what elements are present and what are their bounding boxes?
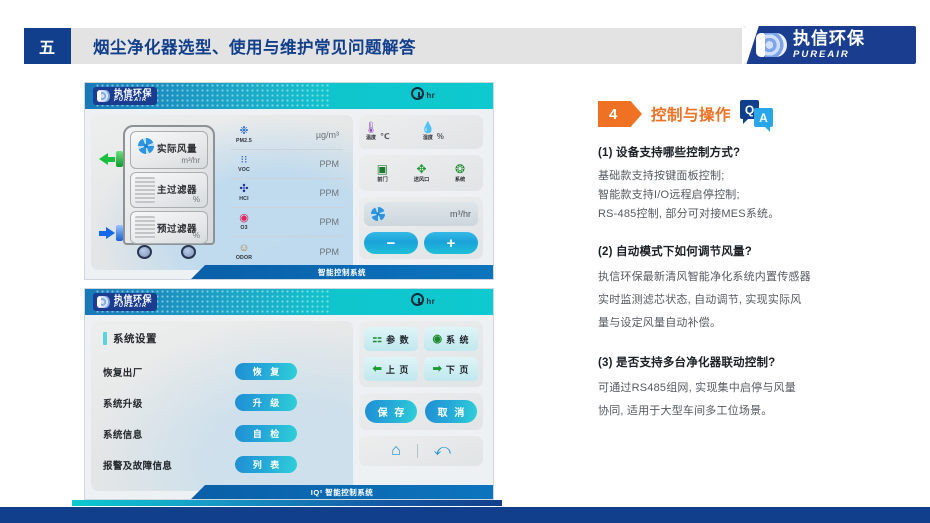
back-arrow-icon[interactable]: ⤺ [434,443,451,459]
voc-icon: ⁝⁝ VOC [231,155,257,173]
air-inlet-arrow [99,225,123,241]
runtime-unit: hr [426,91,435,100]
qa-bubbles-icon: Q A [740,100,774,128]
page-title: 烟尘净化器选型、使用与维护常见问题解答 [71,28,742,64]
grill-icon [135,216,155,239]
hmi-brand-cn: 执信环保 [114,89,152,97]
brand-name-en: PUREAIR [793,50,865,60]
sensor-name: VOC [238,167,250,173]
humidity-drop-icon: 💧 湿度 [421,123,435,141]
machine-section-main-filter[interactable]: 主过滤器 % [130,172,208,208]
faq-answer-line: 智能款支持I/O远程启停控制; [598,186,918,205]
settings-row-upgrade: 系统升级 升 级 [103,387,341,418]
home-back-card: ⌂ ⤺ [359,436,483,466]
status-label: 前门 [377,176,387,183]
hmi-footer-label: 智能控制系统 [191,265,493,279]
next-page-button[interactable]: ➡ 下 页 [424,357,478,381]
fan-icon [138,138,154,154]
faq-question: (3) 是否支持多台净化器联动控制? [598,354,918,370]
hmi-bottom-header: 执信环保 PUREAIR hr [85,289,493,315]
hmi-bottom-body: 系统设置 恢复出厂 恢 复 系统升级 升 级 系统信息 自 检 报警及故障信息 … [85,315,493,497]
airflow-unit: m³/hr [450,209,471,219]
pm25-icon: ❉ PM2.5 [231,126,257,144]
faq-answer-line: 量与设定风量自动补偿。 [598,312,918,335]
sensor-name: PM2.5 [236,138,252,144]
section-unit: % [193,195,200,204]
hmi-top-footer: 智能控制系统 [85,265,493,279]
runtime-clock-icon: hr [411,87,435,100]
cancel-button[interactable]: 取 消 [425,400,477,423]
home-icon[interactable]: ⌂ [391,443,401,459]
faq-content-column: 4 控制与操作 Q A (1) 设备支持哪些控制方式? 基础款支持按键面板控制;… [598,100,918,442]
thermometer-icon: 🌡 温度 [364,123,378,141]
runtime-clock-icon: hr [411,293,435,306]
faq-answer-line: 基础款支持按键面板控制; [598,167,918,186]
hmi-monitor-screenshot: 执信环保 PUREAIR hr [84,82,494,280]
accent-underline-bar [72,500,502,506]
sensor-row[interactable]: ⁝⁝ VOC PPM [231,150,343,179]
hmi-top-header: 执信环保 PUREAIR hr [85,83,493,109]
pureair-mark-icon [754,30,788,60]
machine-section-airflow[interactable]: 实际风量 m³/hr [130,131,208,169]
faq-item-1: (1) 设备支持哪些控制方式? 基础款支持按键面板控制; 智能款支持I/O远程启… [598,144,918,224]
hmi-brand-en: PUREAIR [114,303,152,310]
list-button[interactable]: 列 表 [235,456,297,473]
faq-answer-line: 执信环保最新清风智能净化系统内置传感器 [598,266,918,289]
sensor-name: O3 [240,225,247,231]
system-settings-card: 系统设置 恢复出厂 恢 复 系统升级 升 级 系统信息 自 检 报警及故障信息 … [91,321,353,491]
sensor-unit: µg/m³ [257,130,343,140]
sensor-row[interactable]: ✣ HCI PPM [231,179,343,208]
hmi-brand-logo: 执信环保 PUREAIR [93,293,157,311]
faq-answer-line: 可通过RS485组网, 实现集中启停与风量 [598,377,918,400]
arrow-right-icon: ➡ [433,364,443,375]
upgrade-button[interactable]: 升 级 [235,394,297,411]
sensor-name: HCI [239,196,249,202]
parameters-button[interactable]: ⚏ 参 数 [364,327,418,351]
system-button[interactable]: ◉ 系 统 [424,327,478,351]
env-label: 温度 [366,134,376,141]
machine-status-card: 实际风量 m³/hr 主过滤器 % 预过滤器 % [91,115,353,270]
faq-item-2: (2) 自动模式下如何调节风量? 执信环保最新清风智能净化系统内置传感器 实时监… [598,243,918,335]
system-gear-icon: ◉ [432,334,443,345]
section-number-chevron: 4 [598,101,642,127]
section-title: 控制与操作 [651,103,731,125]
faq-answer-line: RS-485控制, 部分可对接MES系统。 [598,205,918,224]
nav-label: 上 页 [386,363,410,376]
front-door-status[interactable]: ▣ 前门 [377,163,388,183]
hmi-settings-screenshot: 执信环保 PUREAIR hr 系统设置 恢复出厂 恢 复 [84,288,494,500]
sensor-unit: PPM [257,247,343,257]
ozone-icon: ◉ O3 [231,213,257,231]
arrow-left-icon: ⬅ [373,364,383,375]
brand-logo: 执信环保 PUREAIR [744,26,916,64]
caster-wheel-icon [181,245,196,259]
faq-item-3: (3) 是否支持多台净化器联动控制? 可通过RS485组网, 实现集中启停与风量… [598,354,918,423]
section-label: 预过滤器 [157,221,197,235]
slide-page: 五 烟尘净化器选型、使用与维护常见问题解答 执信环保 PUREAIR 执信环保 … [0,0,930,523]
hmi-footer-label: IQ² 智能控制系统 [191,485,493,499]
hmi-brand-en: PUREAIR [114,97,152,104]
hmi-top-body: 实际风量 m³/hr 主过滤器 % 预过滤器 % [85,109,493,280]
system-status[interactable]: ❂ 系统 [455,163,465,183]
nav-label: 参 数 [386,333,410,346]
airflow-setpoint-card: m³/hr − + [359,197,483,259]
setting-label: 系统信息 [103,427,235,441]
odor-icon: ☺ ODOR [231,243,257,261]
machine-section-pre-filter[interactable]: 预过滤器 % [130,211,208,244]
hmi-top-control-column: 🌡 温度 ℃ 💧 湿度 % [359,115,483,280]
section-label: 实际风量 [157,141,197,155]
settings-row-factory-reset: 恢复出厂 恢 复 [103,356,341,387]
slide-title-bar: 五 烟尘净化器选型、使用与维护常见问题解答 [24,28,742,64]
purifier-diagram: 实际风量 m³/hr 主过滤器 % 预过滤器 % [115,125,221,259]
env-unit: % [437,132,444,141]
sensor-row[interactable]: ❉ PM2.5 µg/m³ [231,121,343,150]
sliders-icon: ⚏ [372,334,383,345]
sensor-unit: PPM [257,217,343,227]
section-unit: m³/hr [181,156,200,165]
airflow-increase-button[interactable]: + [424,232,478,254]
settings-row-alarm-info: 报警及故障信息 列 表 [103,449,341,480]
faq-answer-line: 协同, 适用于大型车间多工位场景。 [598,400,918,423]
nav-label: 下 页 [446,363,470,376]
status-card: ▣ 前门 ✥ 送风口 ❂ 系统 [359,155,483,191]
section-number-badge: 五 [24,28,71,64]
save-cancel-card: 保 存 取 消 [359,393,483,430]
section-heading: 4 控制与操作 Q A [598,100,918,128]
answer-bubble: A [754,108,773,127]
status-label: 系统 [455,176,465,183]
status-label: 送风口 [414,176,430,183]
sensor-row[interactable]: ☺ ODOR PPM [231,237,343,266]
faq-question: (2) 自动模式下如何调节风量? [598,243,918,259]
hmi-brand-cn: 执信环保 [114,295,152,303]
settings-row-system-info: 系统信息 自 检 [103,418,341,449]
airflow-decrease-button[interactable]: − [364,232,418,254]
settings-panel-title: 系统设置 [103,331,341,346]
restore-button[interactable]: 恢 复 [235,363,297,380]
sensor-row[interactable]: ◉ O3 PPM [231,208,343,237]
air-outlet-status[interactable]: ✥ 送风口 [414,163,430,183]
sensor-name: ODOR [236,255,252,261]
env-label: 湿度 [423,134,433,141]
setting-label: 报警及故障信息 [103,458,235,472]
section-unit: % [193,231,200,240]
faq-question: (1) 设备支持哪些控制方式? [598,144,918,160]
setting-label: 恢复出厂 [103,365,235,379]
self-check-button[interactable]: 自 检 [235,425,297,442]
airflow-value-display: m³/hr [364,202,478,226]
environment-card: 🌡 温度 ℃ 💧 湿度 % [359,115,483,149]
title-accent-bar [103,332,107,345]
divider [417,444,418,458]
runtime-unit: hr [426,297,435,306]
sensor-unit: PPM [257,159,343,169]
setting-label: 系统升级 [103,396,235,410]
previous-page-button[interactable]: ⬅ 上 页 [364,357,418,381]
faq-answer-line: 实时监测滤芯状态, 自动调节, 实现实际风 [598,289,918,312]
hmi-bottom-footer: IQ² 智能控制系统 [85,485,493,499]
air-outlet-arrow [99,151,123,167]
caster-wheel-icon [137,245,152,259]
nav-label: 系 统 [446,333,470,346]
navigation-card: ⚏ 参 数 ◉ 系 统 ⬅ 上 页 [359,321,483,387]
env-unit: ℃ [380,132,390,141]
slide-footer-bar [0,507,930,523]
sensor-unit: PPM [257,188,343,198]
save-button[interactable]: 保 存 [365,400,417,423]
grill-icon [135,177,155,203]
hmi-bottom-control-column: ⚏ 参 数 ◉ 系 统 ⬅ 上 页 [359,321,483,491]
fan-icon [371,207,385,221]
hmi-brand-logo: 执信环保 PUREAIR [93,87,157,105]
brand-name-cn: 执信环保 [793,30,865,47]
sensor-readout-list: ❉ PM2.5 µg/m³ ⁝⁝ VOC PPM [231,121,343,266]
hcl-icon: ✣ HCI [231,184,257,202]
section-label: 主过滤器 [157,182,197,196]
